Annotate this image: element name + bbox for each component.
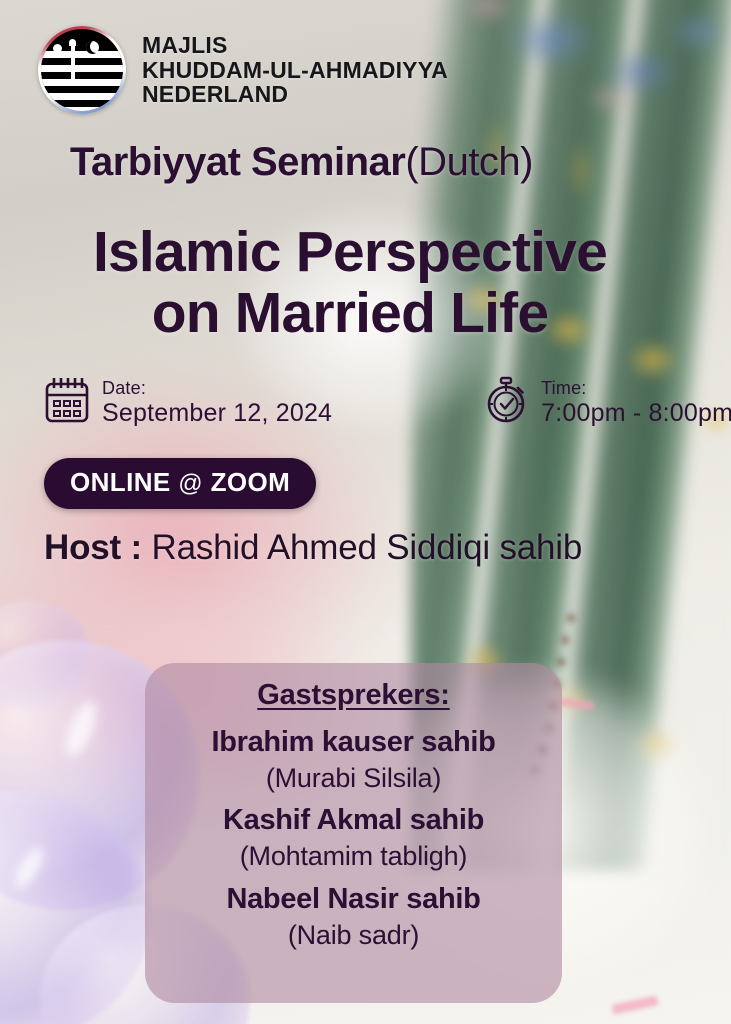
seminar-type-strong: Tarbiyyat Seminar xyxy=(70,140,405,184)
stopwatch-icon xyxy=(483,375,529,430)
speaker-entry: Kashif Akmal sahib (Mohtamim tabligh) xyxy=(145,802,562,873)
poster-header: MAJLIS KHUDDAM-UL-AHMADIYYA NEDERLAND xyxy=(38,26,448,114)
time-value: 7:00pm - 8:00pm xyxy=(541,399,731,427)
at-symbol-icon: @ xyxy=(178,470,203,497)
badge-suffix: ZOOM xyxy=(211,467,291,497)
event-title: Islamic Perspective on Married Life xyxy=(0,222,700,344)
event-info-row: Date: September 12, 2024 xyxy=(44,375,684,430)
speaker-name: Kashif Akmal sahib xyxy=(145,802,562,840)
speaker-name: Ibrahim kauser sahib xyxy=(145,724,562,762)
speaker-role: (Mohtamim tabligh) xyxy=(145,840,562,874)
mka-emblem-icon xyxy=(38,26,126,114)
speaker-entry: Nabeel Nasir sahib (Naib sadr) xyxy=(145,881,562,952)
speaker-role: (Murabi Silsila) xyxy=(145,762,562,796)
host-label: Host : xyxy=(44,528,142,567)
time-info: Time: 7:00pm - 8:00pm xyxy=(483,375,731,430)
date-label: Date: xyxy=(102,378,332,398)
date-value: September 12, 2024 xyxy=(102,399,332,427)
poster: MAJLIS KHUDDAM-UL-AHMADIYYA NEDERLAND Ta… xyxy=(0,0,731,1024)
host-line: Host : Rashid Ahmed Siddiqi sahib xyxy=(44,528,582,568)
speaker-role: (Naib sadr) xyxy=(145,919,562,953)
host-name: Rashid Ahmed Siddiqi sahib xyxy=(152,528,583,567)
speaker-entry: Ibrahim kauser sahib (Murabi Silsila) xyxy=(145,724,562,795)
calendar-icon xyxy=(44,376,90,429)
speakers-panel: Gastsprekers: Ibrahim kauser sahib (Mura… xyxy=(145,663,562,1003)
organization-name: MAJLIS KHUDDAM-UL-AHMADIYYA NEDERLAND xyxy=(142,33,448,107)
date-info: Date: September 12, 2024 xyxy=(44,375,332,430)
seminar-type-language: (Dutch) xyxy=(405,140,533,184)
speaker-name: Nabeel Nasir sahib xyxy=(145,881,562,919)
speakers-heading: Gastsprekers: xyxy=(145,679,562,712)
time-label: Time: xyxy=(541,378,731,398)
online-zoom-badge[interactable]: ONLINE @ ZOOM xyxy=(44,458,316,509)
badge-prefix: ONLINE xyxy=(70,467,171,497)
seminar-type-line: Tarbiyyat Seminar(Dutch) xyxy=(70,140,533,185)
